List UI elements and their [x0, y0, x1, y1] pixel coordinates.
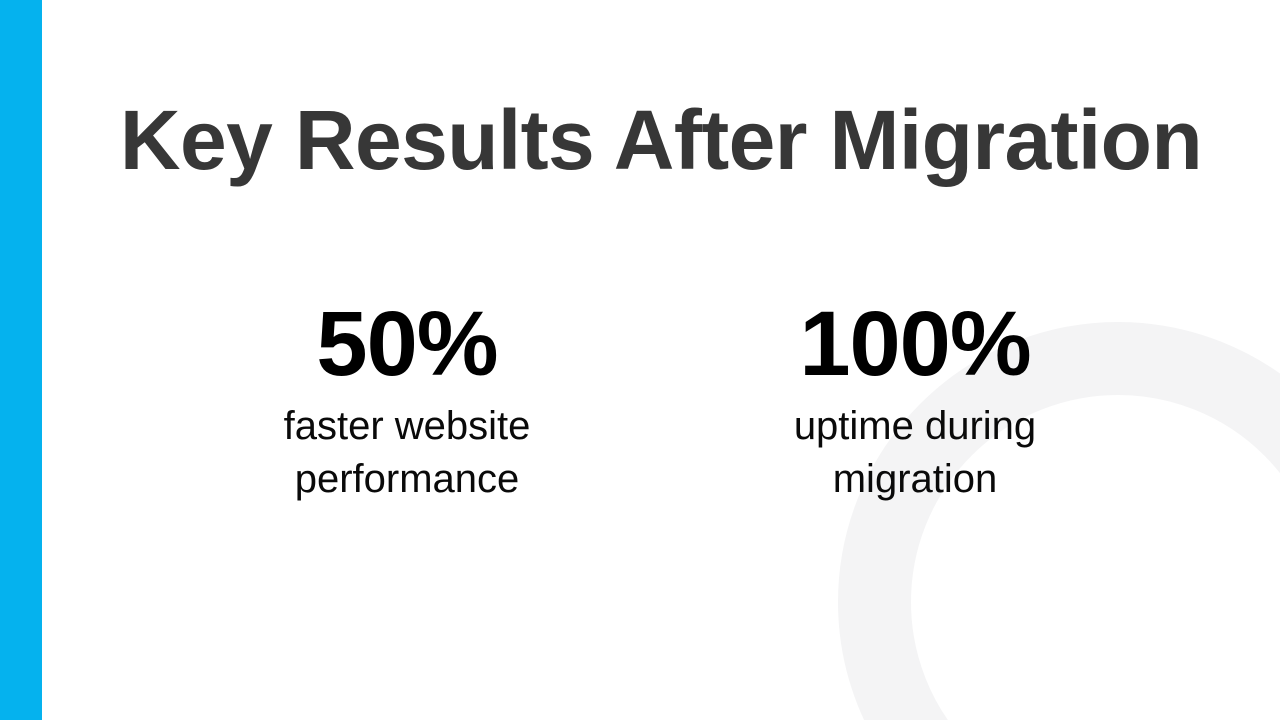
- stat-label: faster website performance: [242, 400, 572, 506]
- stat-block-faster-performance: 50% faster website performance: [217, 296, 597, 506]
- page-title: Key Results After Migration: [42, 92, 1280, 188]
- stat-block-uptime: 100% uptime during migration: [725, 296, 1105, 506]
- slide-content: Key Results After Migration 50% faster w…: [42, 0, 1280, 720]
- stat-label: uptime during migration: [750, 400, 1080, 506]
- stats-row: 50% faster website performance 100% upti…: [42, 296, 1280, 506]
- stat-value: 50%: [217, 296, 597, 392]
- presentation-slide: Key Results After Migration 50% faster w…: [0, 0, 1280, 720]
- stat-value: 100%: [725, 296, 1105, 392]
- left-accent-bar: [0, 0, 42, 720]
